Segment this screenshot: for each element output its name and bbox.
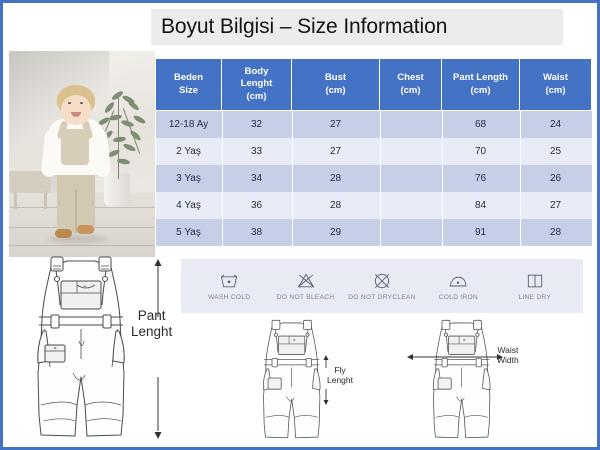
do-not-bleach-icon xyxy=(295,271,317,291)
table-row: 5 Yaş 38 29 91 28 xyxy=(156,219,592,246)
cell-size: 4 Yaş xyxy=(156,192,222,219)
cell-size: 12-18 Ay xyxy=(156,111,222,138)
overalls-drawing-waist-width xyxy=(413,319,513,441)
cell-waist: 27 xyxy=(520,192,592,219)
page-title: Boyut Bilgisi – Size Information xyxy=(161,15,447,39)
cell-body-length: 33 xyxy=(222,138,292,165)
care-item-do-not-bleach: DO NOT BLEACH xyxy=(267,271,343,301)
cell-body-length: 38 xyxy=(222,219,292,246)
cell-pant-length: 76 xyxy=(442,165,520,192)
cell-body-length: 34 xyxy=(222,165,292,192)
size-table: Beden Size Body Lenght (cm) Bust (cm) Ch… xyxy=(155,58,592,246)
cell-body-length: 32 xyxy=(222,111,292,138)
cell-waist: 25 xyxy=(520,138,592,165)
cell-pant-length: 84 xyxy=(442,192,520,219)
col-header-bust: Bust (cm) xyxy=(292,59,380,111)
cell-waist: 24 xyxy=(520,111,592,138)
page-title-band: Boyut Bilgisi – Size Information xyxy=(151,9,563,45)
line-dry-icon xyxy=(524,271,546,291)
care-label: DO NOT BLEACH xyxy=(277,294,335,301)
col-header-beden-size: Beden Size xyxy=(156,59,222,111)
size-chart-page: Boyut Bilgisi – Size Information xyxy=(0,0,600,450)
cell-pant-length: 70 xyxy=(442,138,520,165)
overalls-drawing-front-large xyxy=(17,255,149,441)
cell-chest xyxy=(380,111,442,138)
cell-waist: 28 xyxy=(520,219,592,246)
cell-bust: 28 xyxy=(292,165,380,192)
cell-size: 2 Yaş xyxy=(156,138,222,165)
col-header-chest: Chest (cm) xyxy=(380,59,442,111)
table-row: 4 Yaş 36 28 84 27 xyxy=(156,192,592,219)
col-header-body-lenght: Body Lenght (cm) xyxy=(222,59,292,111)
care-item-wash-cold: WASH COLD xyxy=(191,271,267,301)
do-not-dryclean-icon xyxy=(371,271,393,291)
cell-bust: 28 xyxy=(292,192,380,219)
cell-size: 5 Yaş xyxy=(156,219,222,246)
care-label: LINE DRY xyxy=(518,294,551,301)
cell-bust: 29 xyxy=(292,219,380,246)
pant-length-dimension-arrow xyxy=(151,259,165,439)
cell-chest xyxy=(380,192,442,219)
cell-pant-length: 91 xyxy=(442,219,520,246)
care-label: DO NOT DRYCLEAN xyxy=(348,294,416,301)
care-label: WASH COLD xyxy=(208,294,250,301)
cell-chest xyxy=(380,165,442,192)
cell-chest xyxy=(380,138,442,165)
fly-length-annotation: Fly Lenght xyxy=(327,365,353,385)
waist-width-dimension-arrow xyxy=(407,351,503,363)
waist-width-annotation: Waist Width xyxy=(497,345,519,365)
col-header-pant-length: Pant Length (cm) xyxy=(442,59,520,111)
cell-pant-length: 68 xyxy=(442,111,520,138)
pant-length-annotation: Pant Lenght xyxy=(131,308,172,340)
cold-iron-icon xyxy=(447,271,469,291)
cell-size: 3 Yaş xyxy=(156,165,222,192)
cell-chest xyxy=(380,219,442,246)
cell-bust: 27 xyxy=(292,138,380,165)
care-item-do-not-dryclean: DO NOT DRYCLEAN xyxy=(344,271,420,301)
care-instructions-panel: WASH COLD DO NOT BLEACH DO NOT DRYCLEAN … xyxy=(181,259,583,313)
table-header-row: Beden Size Body Lenght (cm) Bust (cm) Ch… xyxy=(156,59,592,111)
cell-waist: 26 xyxy=(520,165,592,192)
care-label: COLD IRON xyxy=(439,294,478,301)
care-item-line-dry: LINE DRY xyxy=(497,271,573,301)
wash-cold-icon xyxy=(218,271,240,291)
cell-bust: 27 xyxy=(292,111,380,138)
cell-body-length: 36 xyxy=(222,192,292,219)
table-row: 2 Yaş 33 27 70 25 xyxy=(156,138,592,165)
table-row: 3 Yaş 34 28 76 26 xyxy=(156,165,592,192)
product-photo xyxy=(9,51,155,257)
col-header-waist: Waist (cm) xyxy=(520,59,592,111)
photo-child xyxy=(39,85,113,257)
table-row: 12-18 Ay 32 27 68 24 xyxy=(156,111,592,138)
care-item-cold-iron: COLD IRON xyxy=(420,271,496,301)
